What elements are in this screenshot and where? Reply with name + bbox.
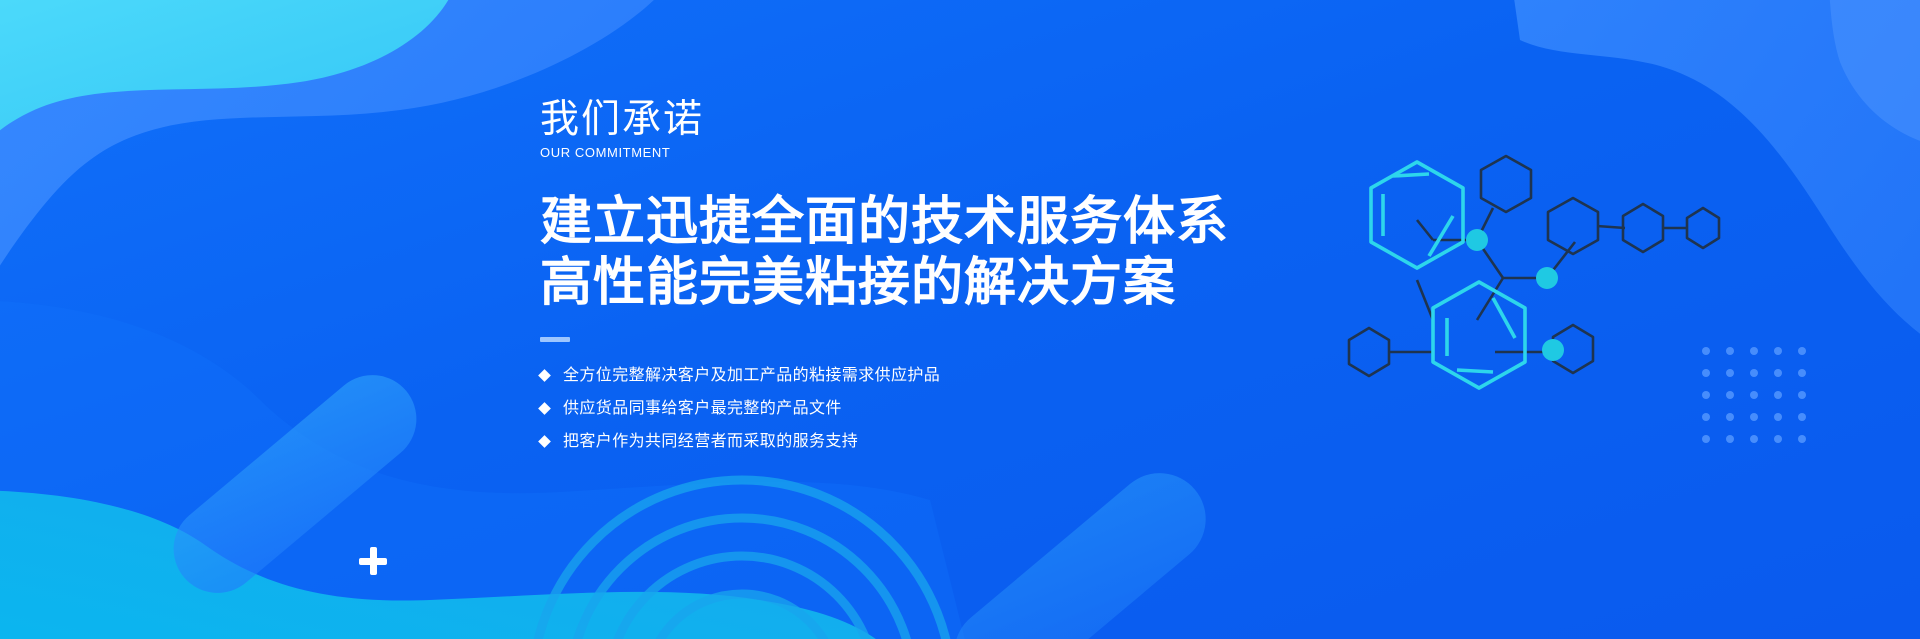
dot-grid-pattern: [1700, 345, 1820, 445]
headline-divider: [540, 337, 570, 342]
molecule-node-cyan-2: [1536, 267, 1558, 289]
hexagon-cyan-upper: [1371, 162, 1463, 268]
diamond-bullet-icon: [538, 402, 551, 415]
hexagon-dark-bottom-left: [1349, 328, 1389, 376]
promo-banner: 我们承诺 OUR COMMITMENT 建立迅捷全面的技术服务体系 高性能完美粘…: [0, 0, 1920, 639]
list-item-label: 供应货品同事给客户最完整的产品文件: [563, 401, 842, 417]
plus-icon: [357, 545, 389, 577]
hexagon-dark-right-3: [1687, 208, 1719, 248]
headline-line-1: 建立迅捷全面的技术服务体系: [540, 192, 1320, 253]
molecule-node-cyan-1: [1466, 229, 1488, 251]
list-item-label: 全方位完整解决客户及加工产品的粘接需求供应护品: [563, 368, 940, 384]
list-item: 供应货品同事给客户最完整的产品文件: [540, 401, 1320, 417]
bond-upper-ring-to-lower-ring: [1417, 280, 1433, 320]
inner-bond-lower-2: [1457, 370, 1493, 372]
headline-line-2: 高性能完美粘接的解决方案: [540, 253, 1320, 314]
headline: 建立迅捷全面的技术服务体系 高性能完美粘接的解决方案: [540, 192, 1320, 315]
list-item: 全方位完整解决客户及加工产品的粘接需求供应护品: [540, 368, 1320, 384]
hexagon-dark-top: [1481, 156, 1531, 212]
eyebrow-chinese: 我们承诺: [540, 100, 1320, 141]
diamond-bullet-icon: [538, 435, 551, 448]
banner-content: 我们承诺 OUR COMMITMENT 建立迅捷全面的技术服务体系 高性能完美粘…: [540, 100, 1320, 467]
bond-right1-to-right2: [1597, 226, 1625, 228]
hexagon-molecule-graphic: [1325, 150, 1755, 440]
hexagon-dark-right-2: [1623, 204, 1663, 252]
list-item-label: 把客户作为共同经营者而采取的服务支持: [563, 434, 858, 450]
commitment-list: 全方位完整解决客户及加工产品的粘接需求供应护品 供应货品同事给客户最完整的产品文…: [540, 368, 1320, 450]
bond-left-ring-lower: [1417, 220, 1433, 240]
molecule-node-cyan-3: [1542, 339, 1564, 361]
diamond-bullet-icon: [538, 369, 551, 382]
eyebrow-english: OUR COMMITMENT: [540, 145, 1320, 160]
list-item: 把客户作为共同经营者而采取的服务支持: [540, 434, 1320, 450]
inner-bond-upper-2: [1393, 174, 1429, 176]
inner-bond-lower-3: [1493, 298, 1515, 338]
